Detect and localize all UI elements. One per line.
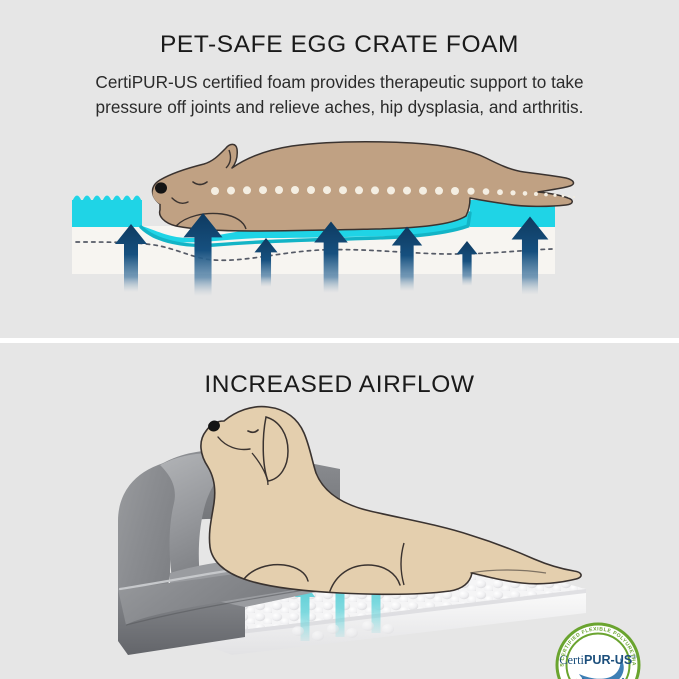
badge-brand-text: CertiPUR-US® bbox=[559, 653, 637, 667]
description-line-2: pressure off joints and relieve aches, h… bbox=[20, 95, 659, 120]
badge-brand-part-2: PUR-US bbox=[584, 653, 632, 667]
dog-illustration-sitting bbox=[201, 407, 581, 595]
certipur-us-badge: CertiPUR-US® CONTAINS CERTIFIED FLEXIBLE… bbox=[557, 624, 639, 679]
description-line-1: CertiPUR-US certified foam provides ther… bbox=[20, 70, 659, 95]
illustration-dog-cross-section bbox=[0, 130, 679, 339]
description-egg-crate-foam: CertiPUR-US certified foam provides ther… bbox=[20, 70, 659, 120]
dog-body bbox=[201, 407, 581, 595]
illustration-dog-on-bolster-bed: CertiPUR-US® CONTAINS CERTIFIED FLEXIBLE… bbox=[0, 393, 679, 679]
page-title-egg-crate-foam: PET-SAFE EGG CRATE FOAM bbox=[0, 31, 679, 59]
section-pet-safe-egg-crate-foam: PET-SAFE EGG CRATE FOAM CertiPUR-US cert… bbox=[0, 0, 679, 339]
section-increased-airflow: INCREASED AIRFLOW bbox=[0, 343, 679, 679]
dog-nose-icon bbox=[155, 182, 167, 193]
